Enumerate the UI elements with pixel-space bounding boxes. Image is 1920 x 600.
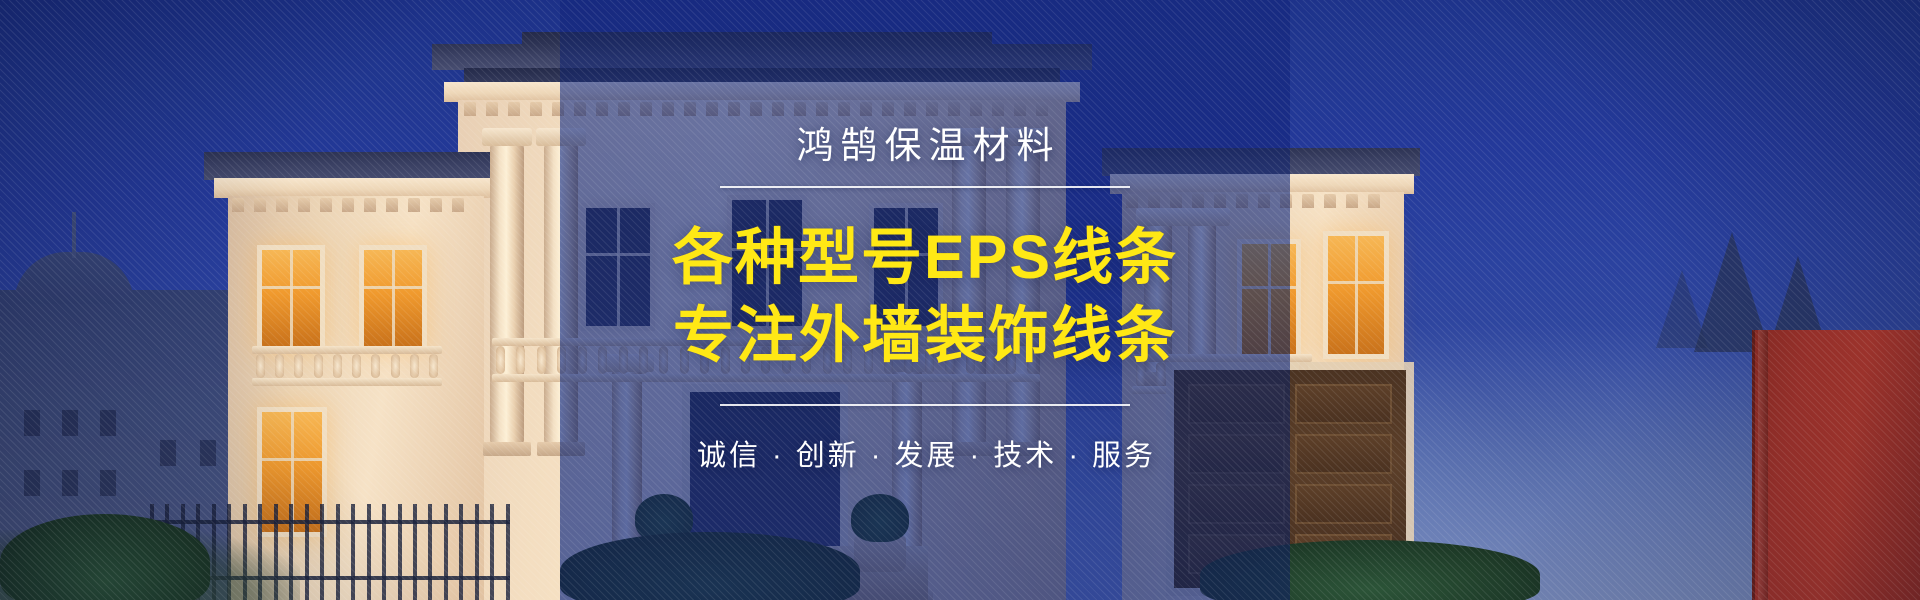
tagline: 诚信 · 创新 · 发展 · 技术 · 服务 [694, 432, 1156, 474]
brand-name: 鸿鹄保温材料 [790, 126, 1061, 167]
banner-copy: 鸿鹄保温材料 各种型号EPS线条 专注外墙装饰线条 诚信 · 创新 · 发展 ·… [560, 0, 1290, 600]
divider-top [720, 186, 1130, 188]
divider-bottom [720, 404, 1130, 406]
hero-banner: 鸿鹄保温材料 各种型号EPS线条 专注外墙装饰线条 诚信 · 创新 · 发展 ·… [0, 0, 1920, 600]
headline-line-1: 各种型号EPS线条 [672, 218, 1178, 296]
headline-line-2: 专注外墙装饰线条 [673, 296, 1177, 374]
